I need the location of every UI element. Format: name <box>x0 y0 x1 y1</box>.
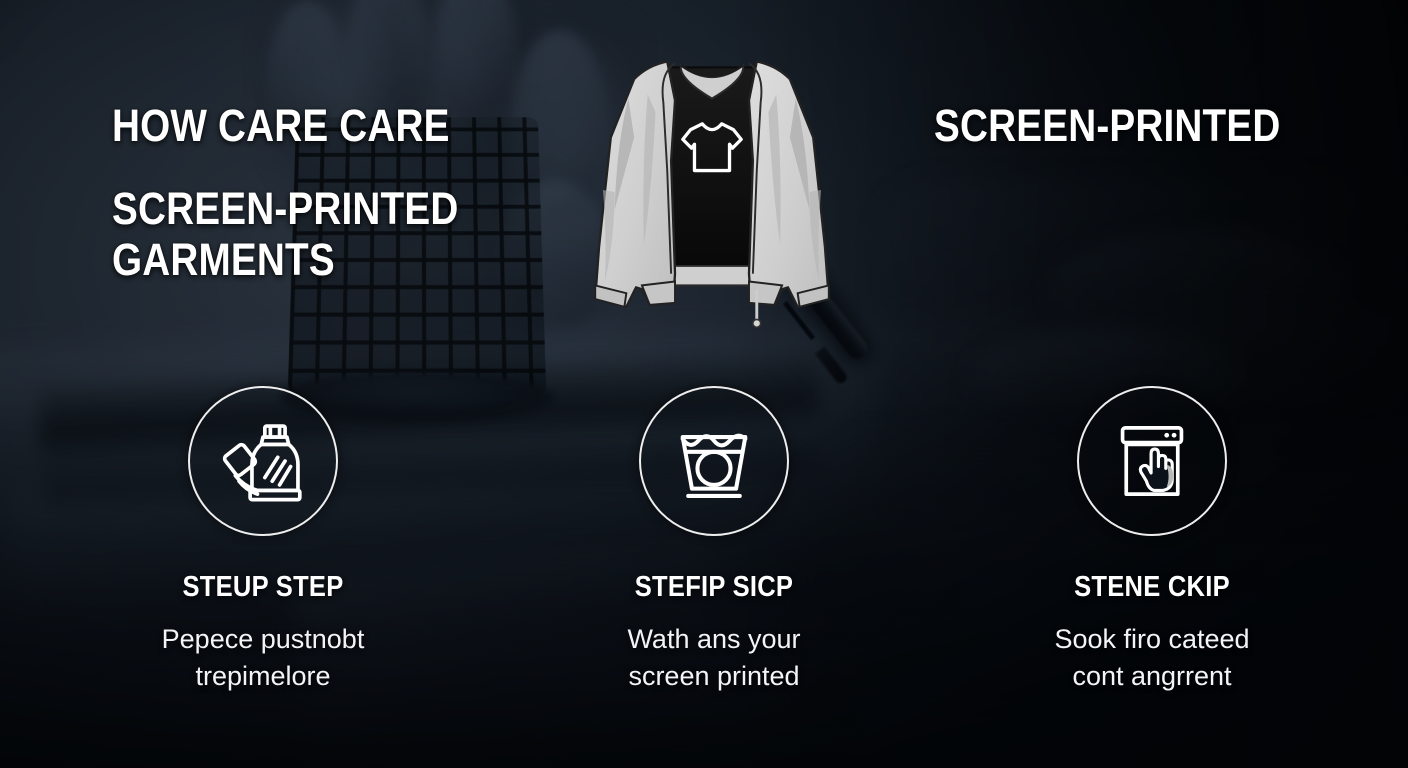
step-3-icon-circle <box>1077 386 1227 536</box>
headline-right: SCREEN-PRINTED <box>934 103 1337 148</box>
step-item-3: STENE CKIP Sook firo cateed cont angrren… <box>987 386 1317 694</box>
garment-illustration <box>566 44 858 336</box>
step-2-icon-circle <box>639 386 789 536</box>
step-1-description: Pepece pustnobt trepimelore <box>98 621 428 694</box>
infographic-poster: HOW CARE CARE SCREEN-PRINTED GARMENTS SC… <box>0 0 1408 768</box>
step-2-description: Wath ans your screen printed <box>549 621 879 694</box>
headline-eyebrow: HOW CARE CARE <box>112 103 482 148</box>
step-item-1: STEUP STEP Pepece pustnobt trepimelore <box>98 386 428 694</box>
step-3-title: STENE CKIP <box>1007 571 1297 604</box>
step-1-desc-line-2: trepimelore <box>98 658 428 695</box>
step-3-desc-line-2: cont angrrent <box>987 658 1317 695</box>
detergent-bottle-icon <box>217 415 309 507</box>
step-2-desc-line-1: Wath ans your <box>549 621 879 658</box>
open-jacket-over-black-tee-icon <box>566 44 858 336</box>
step-1-title: STEUP STEP <box>118 571 408 604</box>
headline-left: HOW CARE CARE SCREEN-PRINTED GARMENTS <box>112 103 542 282</box>
screen-tap-icon <box>1106 415 1198 507</box>
step-1-icon-circle <box>188 386 338 536</box>
step-1-desc-line-1: Pepece pustnobt <box>98 621 428 658</box>
headline-line-1: SCREEN-PRINTED <box>112 186 482 231</box>
step-2-title: STEFIP SICP <box>569 571 859 604</box>
step-item-2: STEFIP SICP Wath ans your screen printed <box>549 386 879 694</box>
step-3-description: Sook firo cateed cont angrrent <box>987 621 1317 694</box>
headline-line-2: GARMENTS <box>112 237 482 282</box>
headline-right-text: SCREEN-PRINTED <box>934 103 1280 148</box>
step-2-desc-line-2: screen printed <box>549 658 879 695</box>
wash-tub-icon <box>668 415 760 507</box>
step-3-desc-line-1: Sook firo cateed <box>987 621 1317 658</box>
